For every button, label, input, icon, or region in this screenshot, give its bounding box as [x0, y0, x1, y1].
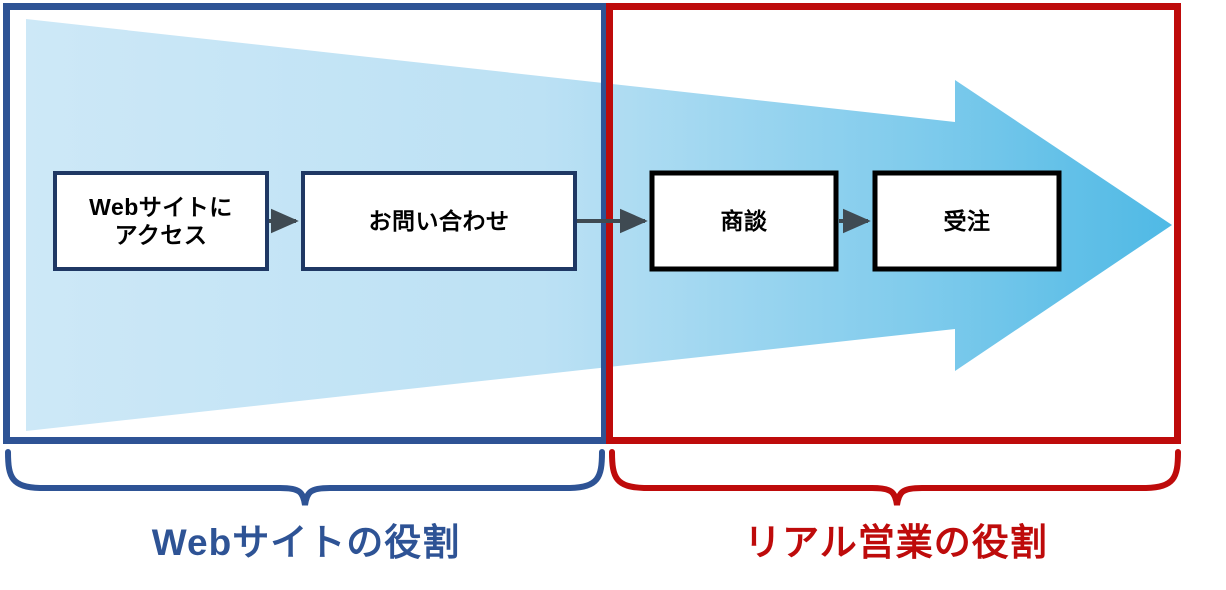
- step-box-3[interactable]: [652, 173, 836, 269]
- web-panel-bracket: [8, 452, 602, 505]
- step-box-4[interactable]: [875, 173, 1059, 269]
- diagram-canvas: Webサイトに アクセス お問い合わせ 商談 受注 Webサイトの役割 リアル営…: [0, 0, 1226, 590]
- real-panel-bracket: [612, 452, 1178, 505]
- step-box-2[interactable]: [303, 173, 575, 269]
- step-box-1[interactable]: [55, 173, 267, 269]
- diagram-artwork: [0, 0, 1226, 590]
